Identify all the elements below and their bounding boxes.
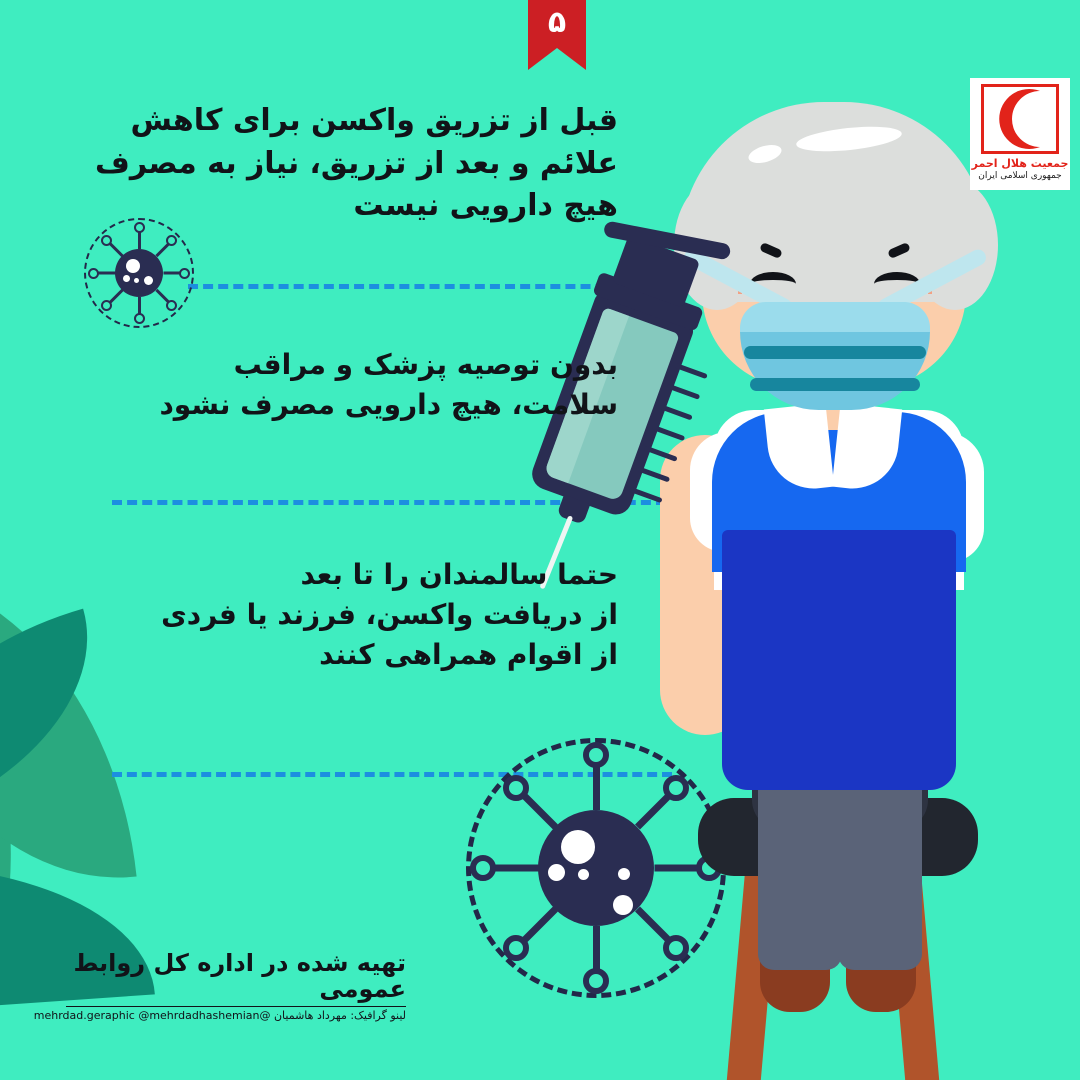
tip-1-text: قبل از تزریق واکسن برای کاهش علائم و بعد… — [148, 100, 618, 228]
tip-2-line-2: سلامت، هیچ دارویی مصرف نشود — [148, 385, 618, 425]
virus-spike-knob — [503, 775, 529, 801]
virus-icon-small — [84, 218, 194, 328]
virus-spike — [97, 272, 115, 275]
tip-2-text: بدون توصیه پزشک و مراقب سلامت، هیچ داروی… — [148, 345, 618, 425]
slide-number-label: ۵ — [548, 8, 566, 38]
virus-dot — [561, 830, 595, 864]
crescent-icon — [981, 84, 1059, 154]
virus-spike — [138, 231, 141, 249]
face-mask-top — [740, 302, 930, 332]
virus-spike — [593, 766, 600, 810]
tip-1-line-1: قبل از تزریق واکسن برای کاهش — [148, 100, 618, 143]
tip-3-line-3: از اقوام همراهی کنند — [148, 635, 618, 675]
footer-sub-text: لینو گرافیک: مهرداد هاشمیان @mehrdad.ger… — [66, 1006, 406, 1022]
virus-dot — [126, 259, 140, 273]
red-crescent-logo: جمعیت هلال احمر جمهوری اسلامی ایران — [970, 78, 1070, 190]
tip-3-text: حتما سالمندان را تا بعد از دریافت واکسن،… — [148, 555, 618, 674]
virus-spike-knob — [583, 742, 609, 768]
virus-spike — [593, 926, 600, 970]
footer-credit: تهیه شده در اداره کل روابط عمومی لینو گر… — [66, 950, 406, 1022]
virus-dot — [123, 275, 130, 282]
vest-lower — [722, 530, 956, 790]
virus-spike-knob — [179, 268, 190, 279]
virus-spike-knob — [166, 300, 177, 311]
virus-spike-knob — [470, 855, 496, 881]
virus-dot — [144, 276, 153, 285]
virus-dot — [134, 278, 139, 283]
virus-spike-knob — [503, 935, 529, 961]
elderly-person-illustration — [640, 60, 1080, 1080]
slide-number-badge: ۵ — [528, 0, 586, 48]
virus-spike-knob — [134, 313, 145, 324]
virus-dot — [578, 869, 589, 880]
face-mask-band — [744, 346, 926, 359]
virus-spike — [494, 865, 538, 872]
infographic-poster: ۵ جمعیت هلال احمر جمهوری اسلامی ایران قب… — [0, 0, 1080, 1080]
tip-3-line-1: حتما سالمندان را تا بعد — [148, 555, 618, 595]
footer-main-text: تهیه شده در اداره کل روابط عمومی — [66, 950, 406, 1003]
tip-1-line-3: هیچ دارویی نیست — [148, 185, 618, 228]
virus-spike-knob — [166, 235, 177, 246]
tip-1-line-2: علائم و بعد از تزریق، نیاز به مصرف — [148, 143, 618, 186]
tip-2-line-1: بدون توصیه پزشک و مراقب — [148, 345, 618, 385]
face-mask-band — [750, 378, 920, 391]
logo-line-2: جمهوری اسلامی ایران — [970, 171, 1070, 181]
tip-3-line-2: از دریافت واکسن، فرزند یا فردی — [148, 595, 618, 635]
virus-dot — [613, 895, 633, 915]
virus-spike-knob — [583, 968, 609, 994]
virus-spike-knob — [101, 300, 112, 311]
virus-dot — [618, 868, 630, 880]
virus-spike-knob — [134, 222, 145, 233]
virus-dot — [548, 864, 565, 881]
logo-line-1: جمعیت هلال احمر — [970, 157, 1070, 170]
virus-spike-knob — [88, 268, 99, 279]
